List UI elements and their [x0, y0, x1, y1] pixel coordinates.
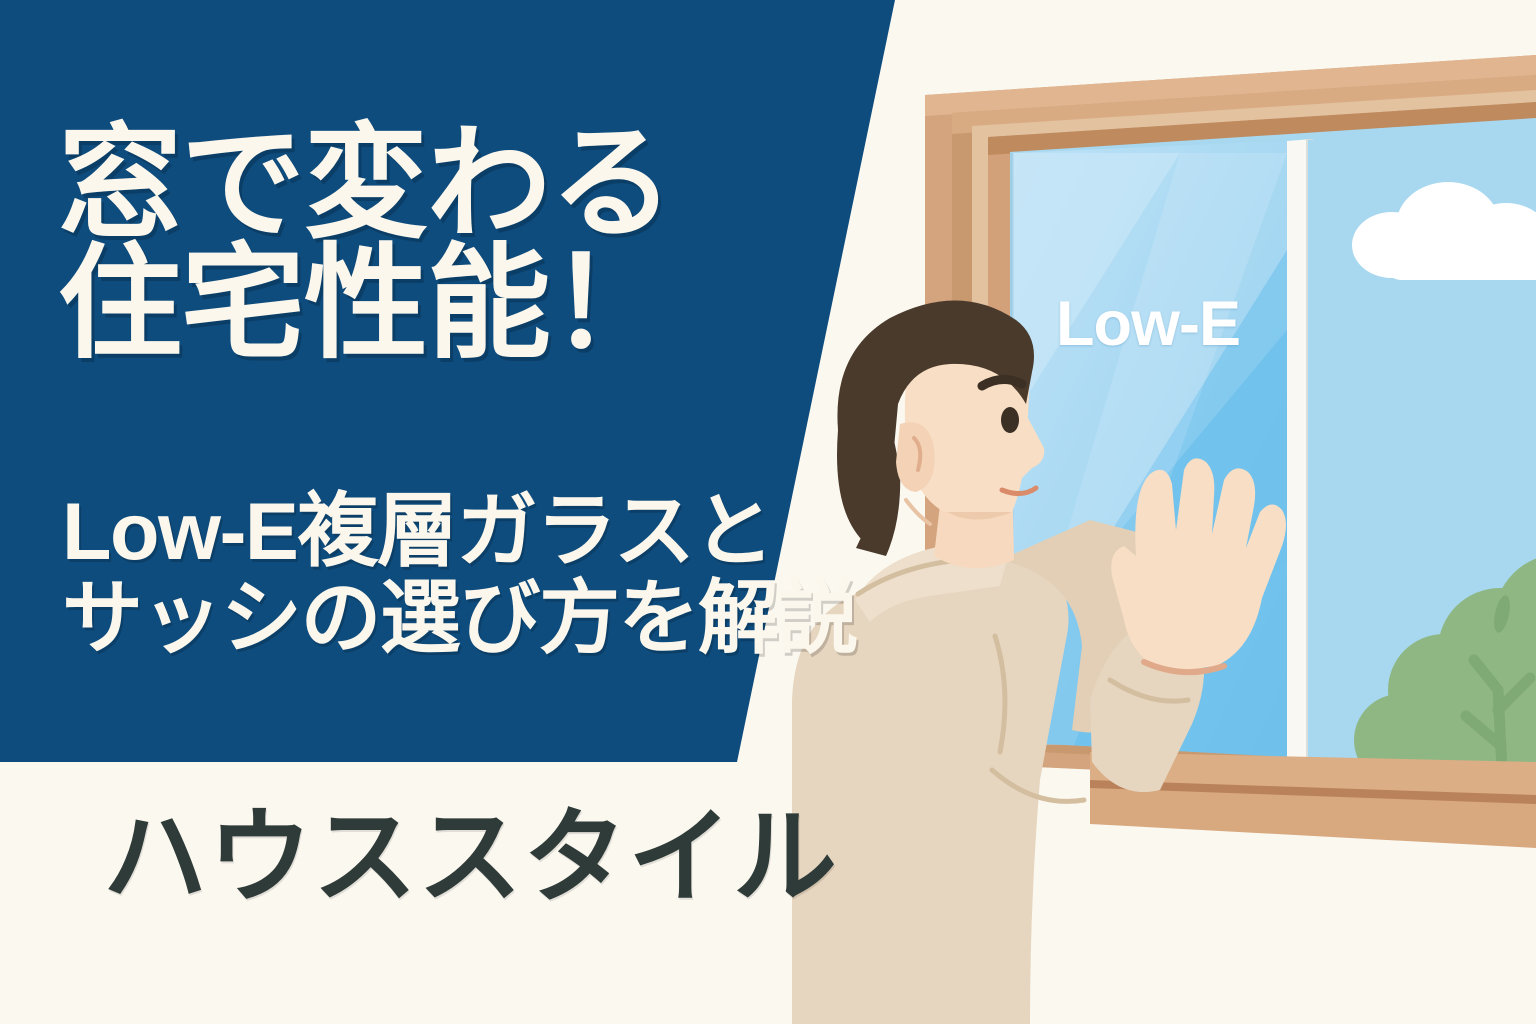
- subtitle-line-1: Low-E複層ガラスと: [62, 489, 782, 576]
- brand-name: ハウススタイル: [103, 806, 838, 910]
- glass-low-e-label: Low-E: [1056, 293, 1240, 356]
- page-subtitle: Low-E複層ガラスと サッシの選び方を解説: [62, 489, 782, 664]
- person-eye: [1001, 407, 1019, 433]
- subtitle-line-2: サッシの選び方を解説: [62, 576, 782, 663]
- page-title: 窓で変わる 住宅性能！: [58, 124, 758, 365]
- right-glass-pane: [1300, 120, 1536, 812]
- title-line-1: 窓で変わる: [58, 124, 758, 244]
- title-line-2: 住宅性能！: [58, 244, 758, 364]
- thumbnail-canvas: 窓で変わる 住宅性能！ Low-E複層ガラスと サッシの選び方を解説 ハウススタ…: [0, 0, 1536, 1024]
